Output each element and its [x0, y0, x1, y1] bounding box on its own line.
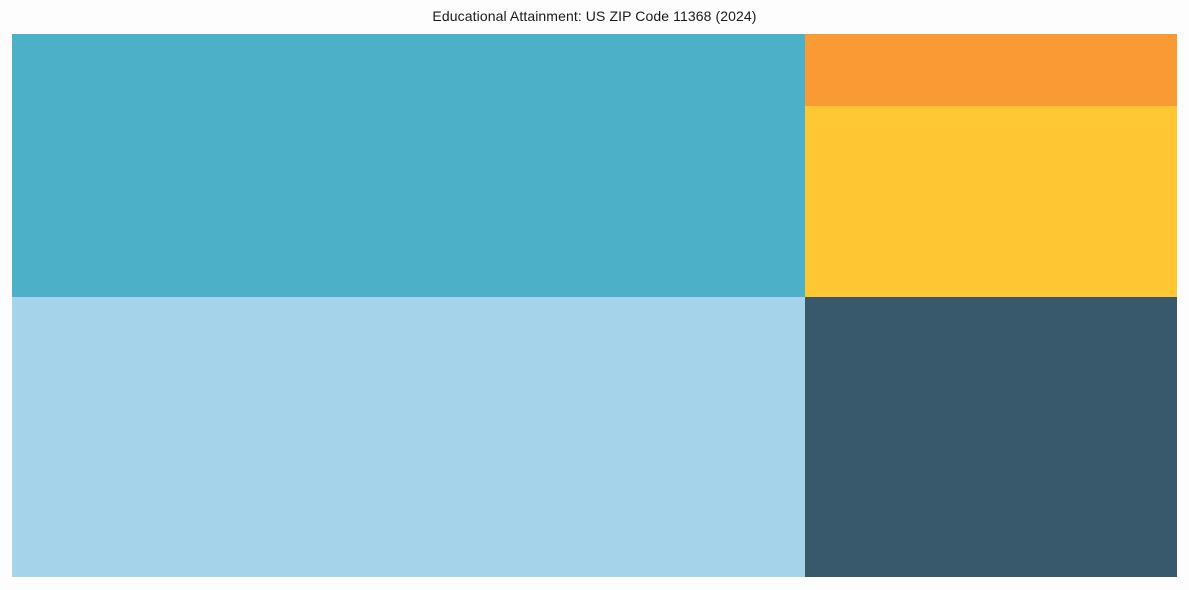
treemap-tile-orange[interactable]: Graduate or professional degree	[805, 34, 1177, 106]
treemap-tile-yellow[interactable]: Some college / Associate's degree	[805, 106, 1177, 297]
page-title: Educational Attainment: US ZIP Code 1136…	[0, 6, 1189, 26]
treemap-column-left: High school graduate Less than high scho…	[12, 34, 805, 577]
treemap-tile-dark-slate[interactable]: Bachelor's degree	[805, 297, 1177, 577]
treemap-plot-area: High school graduate Less than high scho…	[12, 34, 1177, 577]
treemap-tile-light-blue[interactable]: Less than high school	[12, 297, 805, 577]
treemap-column-right: Graduate or professional degree Some col…	[805, 34, 1177, 577]
treemap-tile-teal[interactable]: High school graduate	[12, 34, 805, 297]
treemap-figure: Educational Attainment: US ZIP Code 1136…	[0, 0, 1189, 590]
